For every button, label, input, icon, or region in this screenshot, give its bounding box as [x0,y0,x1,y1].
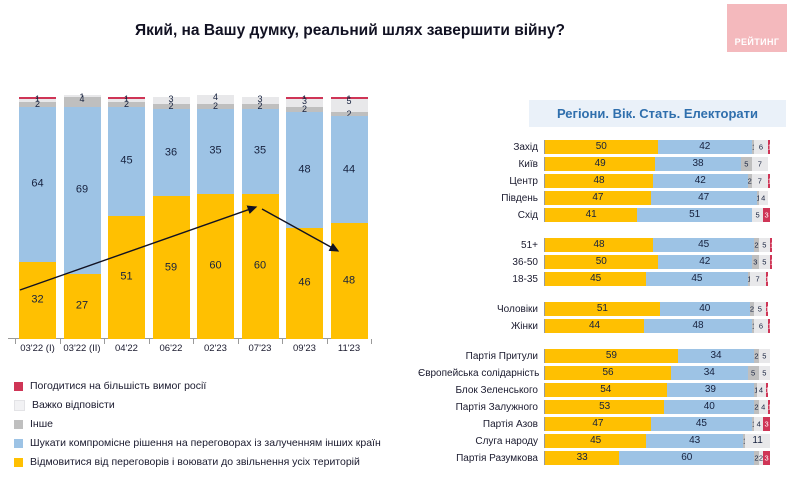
breakdown-segment: 7 [752,174,768,188]
breakdown-segment: 47 [545,417,651,431]
breakdown-segment: 3 [752,255,759,269]
segment-value: 35 [197,146,234,157]
chart-column: 1324846 [286,97,323,339]
breakdown-segment: 5 [748,366,759,380]
timeline-stacked-column-chart: 112643203'22 (I)14692703'22 (II)11245510… [8,84,360,352]
breakdown-segment: 6 [754,140,768,154]
breakdown-segment: 1 [768,319,770,333]
breakdown-row-label: Партія Разумкова [418,453,544,464]
breakdown-segment: 7 [752,157,768,171]
breakdown-segment-value: 48 [545,240,653,250]
breakdown-segment-value: 47 [651,193,757,203]
breakdown-row-track: 5340241 [544,400,795,414]
breakdown-row: Партія Залужного5340241 [418,400,795,414]
breakdown-row: Центр4842271 [418,174,795,188]
breakdown-segment-value: 3 [752,258,759,266]
breakdown-segment-value: 6 [754,143,768,151]
breakdown-row-track: 4543111 [544,434,795,448]
breakdown-segment-value: 40 [660,304,750,314]
breakdown-group: 51+484525136-50504235118-354545171 [418,238,795,286]
breakdown-segment: 42 [658,255,753,269]
column-segment: 44 [331,116,368,222]
breakdown-segment-value: 44 [545,321,644,331]
breakdown-segment-value: 1 [770,241,772,249]
breakdown-segment-value: 48 [545,176,653,186]
breakdown-segment: 48 [545,238,653,252]
column-segment: 59 [153,196,190,339]
breakdown-segment: 33 [545,451,619,465]
breakdown-segment: 3 [763,451,770,465]
breakdown-segment-value: 4 [759,194,768,202]
legend-label: Шукати компромісне рішення на переговора… [30,437,381,449]
breakdown-segment: 39 [667,383,755,397]
segment-value: 44 [331,164,368,175]
breakdown-segment: 5 [759,238,770,252]
breakdown-row-track: 5439141 [544,383,795,397]
breakdown-segment: 54 [545,383,667,397]
column-segment: 60 [242,194,279,339]
breakdown-segment: 48 [644,319,752,333]
breakdown-segment-value: 42 [658,257,753,267]
breakdown-segment: 6 [754,319,768,333]
breakdown-group: Партія Притули593425Європейська солідарн… [418,349,795,465]
breakdown-segment-value: 4 [754,420,763,428]
breakdown-row-label: Європейська солідарність [418,368,544,379]
segment-value: 46 [286,278,323,289]
breakdown-segment: 56 [545,366,671,380]
legend-swatch-hard [14,400,25,411]
breakdown-segment-value: 45 [653,240,754,250]
breakdown-segment: 42 [653,174,748,188]
breakdown-segment: 3 [763,208,770,222]
breakdown-segment-value: 4 [757,386,766,394]
breakdown-row-track: 4448161 [544,319,795,333]
breakdown-panel-title: Регіони. Вік. Стать. Електорати [557,106,758,121]
page-title: Який, на Вашу думку, реальний шлях завер… [0,22,700,40]
segment-value: 5 [331,97,368,106]
breakdown-group: Чоловіки5140251Жінки4448161 [418,302,795,333]
breakdown-segment-value: 47 [545,419,651,429]
legend-swatch-compromise [14,439,23,448]
breakdown-segment: 38 [655,157,741,171]
breakdown-row: Південь474714 [418,191,795,205]
column-segment: 45 [108,107,145,216]
breakdown-segment: 5 [741,157,752,171]
breakdown-row-label: Партія Притули [418,351,544,362]
breakdown-segment: 44 [545,319,644,333]
breakdown-segment-value: 50 [545,142,658,152]
breakdown-segment-value: 5 [759,241,770,249]
breakdown-segment-value: 5 [752,211,763,219]
segment-value: 4 [197,93,234,102]
legend-item: Відмовитися від переговорів і воювати до… [14,456,414,468]
column-segment: 48 [286,112,323,228]
breakdown-row: 36-505042351 [418,255,795,269]
breakdown-segment-value: 1 [766,386,768,394]
breakdown-row-label: Жінки [418,321,544,332]
breakdown-segment-value: 6 [754,322,768,330]
rating-logo-text: РЕЙТИНГ [735,37,780,52]
breakdown-row: Партія Разумкова3360223 [418,451,795,465]
breakdown-segment: 5 [759,349,770,363]
breakdown-segment: 50 [545,255,658,269]
breakdown-segment-value: 34 [671,368,748,378]
breakdown-segment-value: 42 [658,142,753,152]
segment-value: 32 [19,295,56,306]
breakdown-row-label: 36-50 [418,257,544,268]
column-segment: 64 [19,107,56,262]
breakdown-row: Захід5042161 [418,140,795,154]
legend-item: Шукати компромісне рішення на переговора… [14,437,414,449]
breakdown-row: Партія Азов4745143 [418,417,795,431]
breakdown-segment: 1 [766,272,768,286]
group-spacer [418,225,795,238]
breakdown-segment-value: 51 [545,304,660,314]
breakdown-segment: 47 [545,191,651,205]
breakdown-row: Київ493857 [418,157,795,171]
breakdown-segment-value: 5 [759,352,770,360]
breakdown-segment-value: 5 [741,160,752,168]
segment-value: 45 [108,156,145,167]
breakdown-segment-value: 1 [768,403,770,411]
group-spacer [418,336,795,349]
breakdown-row-label: 51+ [418,240,544,251]
breakdown-segment: 1 [768,174,770,188]
breakdown-row: Слуга народу4543111 [418,434,795,448]
breakdown-row: Схід415153 [418,208,795,222]
breakdown-segment-value: 45 [545,274,646,284]
breakdown-segment: 60 [619,451,754,465]
breakdown-segment: 4 [754,417,763,431]
legend-label: Інше [30,418,53,430]
column-segment: 51 [108,216,145,339]
breakdown-segment: 3 [763,417,770,431]
breakdown-row-track: 3360223 [544,451,795,465]
breakdown-segment: 1 [768,140,770,154]
column-segment: 36 [153,109,190,196]
segment-value: 36 [153,147,190,158]
segment-value: 4 [64,95,101,104]
breakdown-segment: 11 [745,434,770,448]
breakdown-segment: 1 [766,383,768,397]
breakdown-segment-value: 7 [750,275,766,283]
breakdown-segment-value: 59 [545,351,678,361]
breakdown-row-track: 4842271 [544,174,795,188]
breakdown-row-label: Слуга народу [418,436,544,447]
segment-value: 48 [331,275,368,286]
breakdown-segment: 1 [768,400,770,414]
breakdown-segment: 45 [545,434,646,448]
breakdown-segment-value: 7 [752,160,768,168]
breakdown-segment-value: 1 [766,305,768,313]
breakdown-row-label: Центр [418,176,544,187]
breakdown-segment-value: 3 [763,211,770,219]
breakdown-segment-value: 1 [768,143,770,151]
breakdown-row-track: 5140251 [544,302,795,316]
segment-value: 27 [64,301,101,312]
chart-column: 323659 [153,97,190,339]
breakdown-segment-value: 40 [664,402,754,412]
segment-value: 69 [64,185,101,196]
breakdown-row-track: 474714 [544,191,795,205]
breakdown-row-label: Схід [418,210,544,221]
breakdown-segment: 5 [754,302,765,316]
breakdown-row-label: Партія Азов [418,419,544,430]
legend-swatch-agree [14,382,23,391]
breakdown-row-track: 593425 [544,349,795,363]
breakdown-segment: 40 [660,302,750,316]
breakdown-segment-value: 38 [655,159,741,169]
breakdown-segment: 45 [651,417,752,431]
column-segment: 46 [286,228,323,339]
breakdown-row-label: Партія Залужного [418,402,544,413]
x-axis-tick [371,339,372,344]
breakdown-segment-value: 56 [545,368,671,378]
breakdown-row: 51+4845251 [418,238,795,252]
breakdown-segment-value: 54 [545,385,667,395]
breakdown-segment-value: 1 [766,275,768,283]
breakdown-segment-value: 45 [545,436,646,446]
group-spacer [418,289,795,302]
breakdown-segment: 41 [545,208,637,222]
legend-swatch-other [14,420,23,429]
chart-column: 1126432 [19,97,56,339]
column-segment: 35 [197,109,234,194]
segment-value: 60 [197,261,234,272]
breakdown-row: 18-354545171 [418,272,795,286]
column-segment: 48 [331,223,368,339]
breakdown-segment: 48 [545,174,653,188]
breakdown-row-label: Блок Зеленського [418,385,544,396]
breakdown-row-label: Захід [418,142,544,153]
breakdown-segment-value: 5 [759,369,770,377]
breakdown-row: Блок Зеленського5439141 [418,383,795,397]
column-segment: 60 [197,194,234,339]
breakdown-segment-value: 42 [653,176,748,186]
chart-column: 1524448 [331,97,368,339]
breakdown-segment: 34 [678,349,755,363]
breakdown-segment: 47 [651,191,757,205]
breakdown-segment: 7 [750,272,766,286]
breakdown-segment-value: 1 [768,177,770,185]
breakdown-segment: 42 [658,140,753,154]
breakdown-segment-value: 3 [763,420,770,428]
breakdown-segment: 51 [637,208,752,222]
breakdown-row: Чоловіки5140251 [418,302,795,316]
breakdown-segment-value: 1 [768,322,770,330]
rating-logo: РЕЙТИНГ [727,4,787,52]
breakdown-row: Жінки4448161 [418,319,795,333]
breakdown-row-track: 563455 [544,366,795,380]
breakdown-horizontal-bar-chart: Захід5042161Київ493857Центр4842271Півден… [418,140,795,470]
breakdown-row-track: 415153 [544,208,795,222]
breakdown-segment: 50 [545,140,658,154]
breakdown-segment: 53 [545,400,664,414]
breakdown-segment-value: 45 [651,419,752,429]
breakdown-row-label: Південь [418,193,544,204]
chart-column: 1124551 [108,97,145,339]
breakdown-segment: 5 [759,255,770,269]
legend-swatch-fight [14,458,23,467]
breakdown-segment: 45 [545,272,646,286]
chart-column: 323560 [242,97,279,339]
breakdown-segment-value: 41 [545,210,637,220]
segment-value: 60 [242,261,279,272]
breakdown-panel-header: Регіони. Вік. Стать. Електорати [529,100,786,127]
legend-label: Погодитися на більшість вимог росії [30,380,206,392]
breakdown-segment-value: 47 [545,193,651,203]
legend-label: Важко відповісти [32,399,115,411]
breakdown-segment: 4 [759,191,768,205]
breakdown-segment-value: 3 [763,454,770,462]
breakdown-row-track: 4545171 [544,272,795,286]
breakdown-segment: 45 [653,238,754,252]
legend-label: Відмовитися від переговорів і воювати до… [30,456,360,468]
breakdown-row-label: 18-35 [418,274,544,285]
breakdown-segment: 1 [770,238,772,252]
column-segment: 32 [19,262,56,339]
breakdown-segment-value: 7 [752,177,768,185]
breakdown-segment-value: 11 [745,436,770,446]
breakdown-segment-value: 5 [759,258,770,266]
breakdown-row-track: 5042161 [544,140,795,154]
breakdown-segment: 5 [752,208,763,222]
x-axis-label: 11'23 [319,343,379,354]
breakdown-segment: 40 [664,400,754,414]
breakdown-row-label: Київ [418,159,544,170]
breakdown-group: Захід5042161Київ493857Центр4842271Півден… [418,140,795,222]
breakdown-segment-value: 43 [646,436,743,446]
column-segment: 69 [64,107,101,274]
legend-item: Важко відповісти [14,399,414,411]
column-segment: 27 [64,274,101,339]
column-segment: 35 [242,109,279,194]
segment-value: 48 [286,164,323,175]
breakdown-row: Партія Притули593425 [418,349,795,363]
breakdown-segment: 1 [766,302,768,316]
breakdown-segment-value: 51 [637,210,752,220]
breakdown-segment: 5 [759,366,770,380]
chart-column: 146927 [64,95,101,339]
breakdown-row-track: 5042351 [544,255,795,269]
legend-item: Погодитися на більшість вимог росії [14,380,414,392]
breakdown-segment: 34 [671,366,748,380]
breakdown-segment-value: 48 [644,321,752,331]
breakdown-segment-value: 49 [545,159,655,169]
breakdown-segment: 59 [545,349,678,363]
breakdown-segment-value: 5 [748,369,759,377]
breakdown-row: Європейська солідарність563455 [418,366,795,380]
breakdown-segment-value: 50 [545,257,658,267]
breakdown-segment-value: 39 [667,385,755,395]
breakdown-segment: 51 [545,302,660,316]
segment-value: 51 [108,272,145,283]
breakdown-segment-value: 53 [545,402,664,412]
breakdown-row-track: 4845251 [544,238,795,252]
breakdown-segment-value: 60 [619,453,754,463]
chart-column: 423560 [197,95,234,339]
breakdown-segment: 45 [646,272,747,286]
chart-legend: Погодитися на більшість вимог росіїВажко… [14,380,414,475]
segment-value: 59 [153,262,190,273]
breakdown-segment-value: 45 [646,274,747,284]
segment-value: 64 [19,179,56,190]
breakdown-segment: 43 [646,434,743,448]
breakdown-segment-value: 4 [759,403,768,411]
legend-item: Інше [14,418,414,430]
breakdown-row-label: Чоловіки [418,304,544,315]
breakdown-segment-value: 5 [754,305,765,313]
breakdown-segment: 4 [757,383,766,397]
breakdown-row-track: 493857 [544,157,795,171]
breakdown-segment-value: 1 [770,258,772,266]
breakdown-row-track: 4745143 [544,417,795,431]
breakdown-segment: 4 [759,400,768,414]
breakdown-segment: 1 [770,255,772,269]
breakdown-segment-value: 34 [678,351,755,361]
segment-value: 35 [242,146,279,157]
column-segment: 4 [64,97,101,107]
breakdown-segment: 49 [545,157,655,171]
breakdown-segment-value: 33 [545,453,619,463]
